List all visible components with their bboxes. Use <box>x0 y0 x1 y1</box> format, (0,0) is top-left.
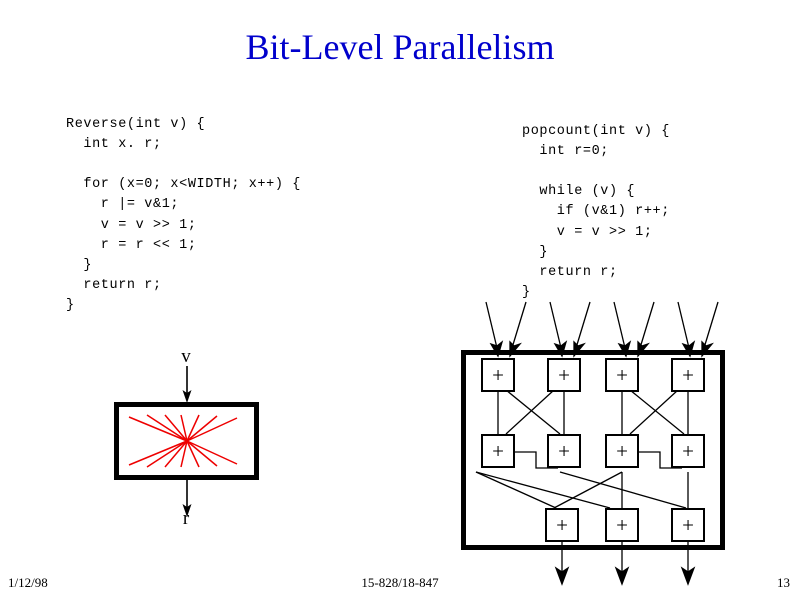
reverse-input-label: v <box>166 346 206 368</box>
reverse-input-arrow <box>180 366 194 404</box>
adder-cell: + <box>605 434 639 468</box>
adder-cell: + <box>481 358 515 392</box>
crossbar-wires <box>119 407 254 475</box>
adder-cell: + <box>547 358 581 392</box>
adder-tree-diagram: + + + + + + + + + + + <box>450 296 750 586</box>
reverse-permutation-box <box>114 402 259 480</box>
code-block-reverse: Reverse(int v) { int x. r; for (x=0; x<W… <box>66 115 301 317</box>
adder-cell: + <box>605 508 639 542</box>
page-title: Bit-Level Parallelism <box>0 26 800 68</box>
adder-cell: + <box>481 434 515 468</box>
footer-page-number: 13 <box>777 575 790 591</box>
adder-cell: + <box>671 358 705 392</box>
adder-cell: + <box>545 508 579 542</box>
adder-cell: + <box>671 508 705 542</box>
footer-course-code: 15-828/18-847 <box>0 575 800 591</box>
code-block-popcount: popcount(int v) { int r=0; while (v) { i… <box>522 122 670 304</box>
adder-cell: + <box>605 358 639 392</box>
adder-cell: + <box>671 434 705 468</box>
adder-cell: + <box>547 434 581 468</box>
reverse-output-label: r <box>166 508 206 530</box>
reverse-network-diagram: v <box>100 340 280 540</box>
